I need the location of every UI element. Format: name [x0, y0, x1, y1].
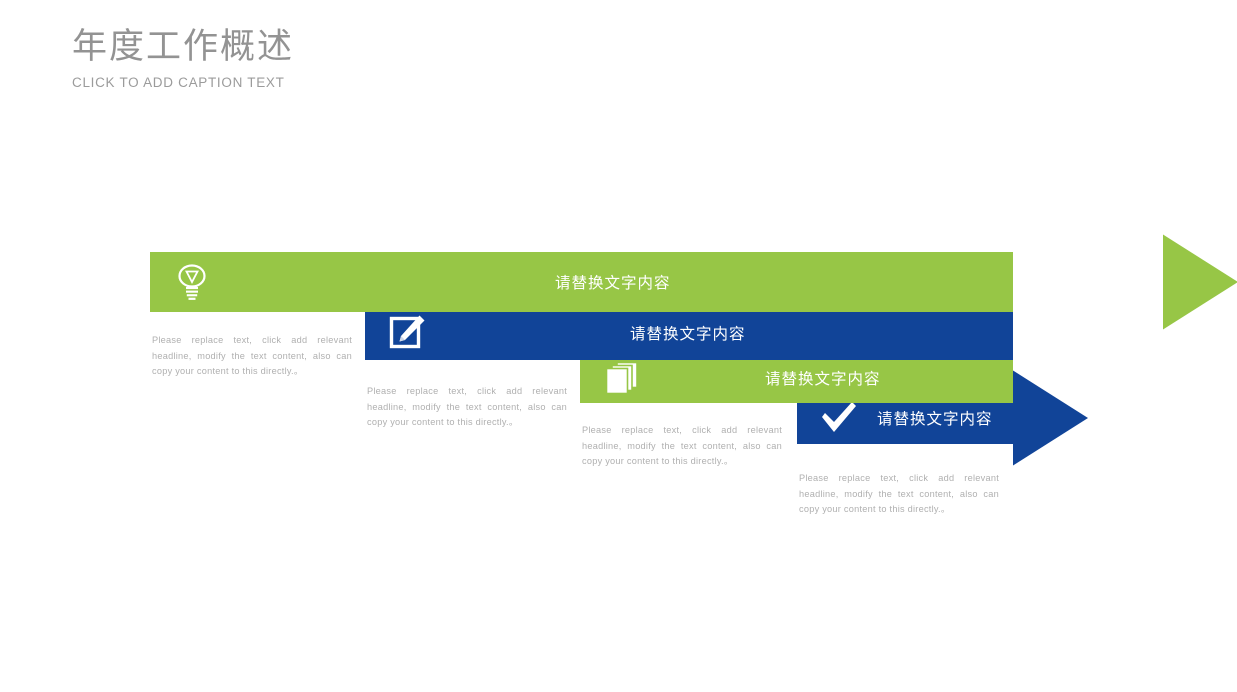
band-1-description: Please replace text, click add relevant … — [152, 333, 352, 380]
slide-header: 年度工作概述 CLICK TO ADD CAPTION TEXT — [72, 25, 294, 91]
checkmark-icon — [819, 398, 859, 438]
band-4-arrowhead — [1013, 371, 1088, 466]
arrowhead-shape — [1013, 371, 1088, 466]
edit-pencil-icon-shape — [389, 315, 425, 351]
band-1-title: 请替换文字内容 — [555, 271, 671, 293]
band-2-description: Please replace text, click add relevant … — [367, 384, 567, 431]
edit-pencil-icon — [387, 313, 427, 353]
band-3-description: Please replace text, click add relevant … — [582, 423, 782, 470]
band-4-title: 请替换文字内容 — [877, 407, 993, 429]
slide-canvas: 年度工作概述 CLICK TO ADD CAPTION TEXT 请替换文字内容… — [0, 0, 1237, 692]
lightbulb-icon-shape — [175, 263, 209, 301]
process-band-3[interactable]: 请替换文字内容 — [580, 353, 1013, 403]
documents-stack-icon — [602, 358, 642, 398]
checkmark-icon-shape — [819, 401, 859, 435]
band-1-arrowhead — [1163, 235, 1237, 330]
band-4-description: Please replace text, click add relevant … — [799, 471, 999, 518]
process-band-1[interactable]: 请替换文字内容 — [150, 252, 1013, 312]
documents-stack-icon-shape — [603, 361, 641, 395]
process-band-2[interactable]: 请替换文字内容 — [365, 306, 1013, 360]
band-2-title: 请替换文字内容 — [630, 322, 746, 344]
band-3-title: 请替换文字内容 — [765, 367, 881, 389]
page-title: 年度工作概述 — [72, 25, 294, 69]
lightbulb-icon — [172, 262, 212, 302]
page-subtitle: CLICK TO ADD CAPTION TEXT — [72, 75, 294, 91]
arrowhead-shape — [1163, 235, 1237, 330]
